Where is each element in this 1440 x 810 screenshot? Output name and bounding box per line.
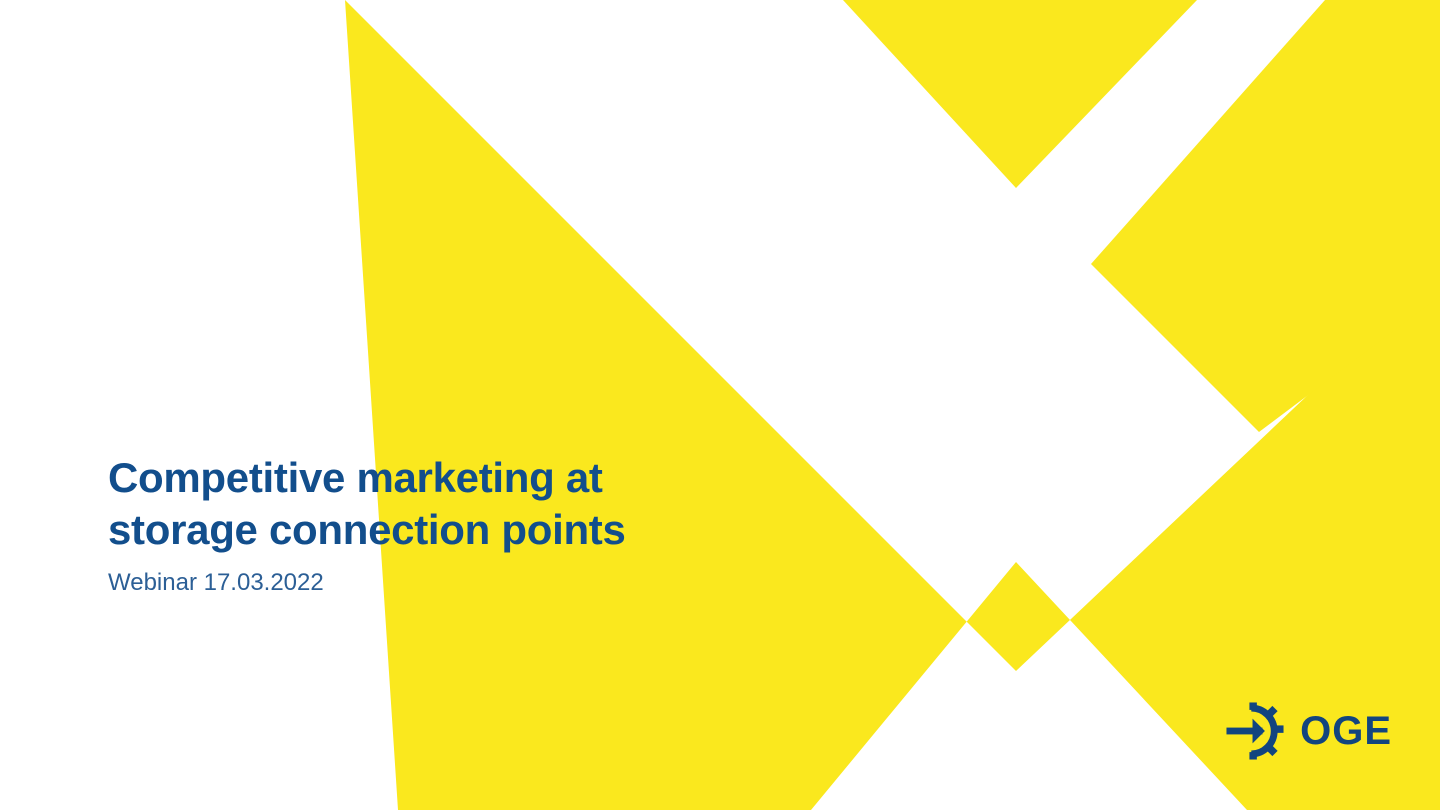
oge-wordmark: OGE	[1300, 711, 1392, 751]
title-block: Competitive marketing at storage connect…	[108, 452, 748, 598]
oge-logo: OGE	[1224, 700, 1392, 762]
title-slide: Competitive marketing at storage connect…	[0, 0, 1440, 810]
oge-gear-arrow-icon	[1224, 700, 1286, 762]
page-title: Competitive marketing at storage connect…	[108, 452, 748, 556]
slide-subtitle: Webinar 17.03.2022	[108, 568, 748, 598]
x-cross-shape-icon	[0, 0, 1440, 810]
